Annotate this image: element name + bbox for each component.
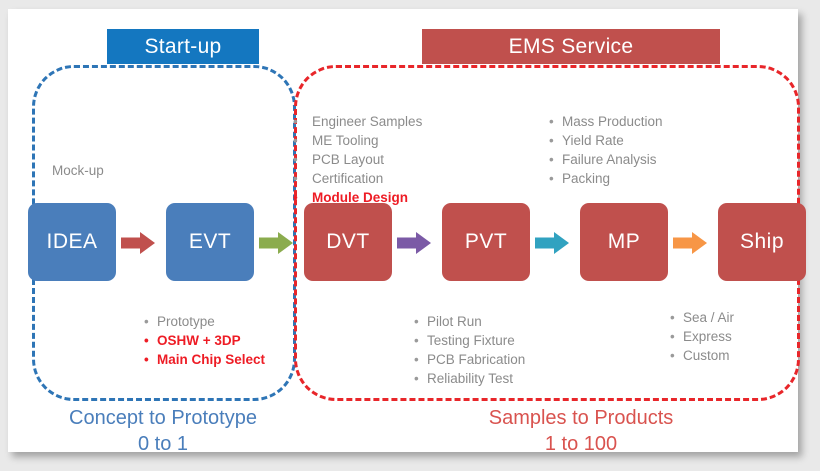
banner-ems-service: EMS Service: [422, 29, 720, 64]
bullet-icon: •: [549, 131, 562, 150]
stage-box-mp[interactable]: MP: [580, 203, 668, 281]
stage-box-ship[interactable]: Ship: [718, 203, 806, 281]
arrow-right-icon-pvt-to-mp: [535, 231, 569, 255]
list-item: •Main Chip Select: [144, 350, 265, 369]
stage-label-dvt: DVT: [326, 230, 370, 254]
list-item: •Reliability Test: [414, 369, 525, 388]
list-evt-activities: •Prototype•OSHW + 3DP•Main Chip Select: [144, 312, 265, 369]
bullet-icon: •: [293, 188, 298, 207]
stage-box-dvt[interactable]: DVT: [304, 203, 392, 281]
bullet-icon: •: [293, 131, 298, 150]
bullet-icon: •: [549, 112, 562, 131]
list-item-label: Mass Production: [562, 114, 663, 129]
list-item-label: Pilot Run: [427, 314, 482, 329]
list-item: •Engineer Samples: [299, 112, 422, 131]
banner-startup-label: Start-up: [144, 35, 221, 59]
list-item-label: Main Chip Select: [157, 352, 265, 367]
banner-ems-label: EMS Service: [509, 35, 634, 59]
bullet-icon: •: [549, 169, 562, 188]
list-item-label: Prototype: [157, 314, 215, 329]
bullet-icon: •: [293, 169, 298, 188]
list-item: •Custom: [670, 346, 734, 365]
list-item: •Testing Fixture: [414, 331, 525, 350]
list-item-label: Testing Fixture: [427, 333, 515, 348]
bullet-icon: •: [414, 369, 427, 388]
list-item-label: Sea / Air: [683, 310, 734, 325]
list-item: •PCB Layout: [299, 150, 422, 169]
bullet-icon: •: [144, 350, 157, 369]
bullet-icon: •: [670, 327, 683, 346]
list-dvt-deliverables: •Engineer Samples•ME Tooling•PCB Layout•…: [299, 112, 422, 207]
bullet-icon: •: [144, 331, 157, 350]
arrow-right-icon-idea-to-evt: [121, 231, 155, 255]
caption-ems: Samples to Products 1 to 100: [368, 405, 794, 457]
diagram-card: Start-up EMS Service Mock-up •Engineer S…: [8, 9, 798, 452]
list-item-label: Reliability Test: [427, 371, 513, 386]
caption-startup-line1: Concept to Prototype: [32, 405, 294, 431]
mockup-label: Mock-up: [52, 163, 104, 178]
list-item-label: ME Tooling: [312, 133, 379, 148]
list-item-label: Packing: [562, 171, 610, 186]
stage-label-pvt: PVT: [465, 230, 507, 254]
list-ship-activities: •Sea / Air•Express•Custom: [670, 308, 734, 365]
stage-label-mp: MP: [608, 230, 641, 254]
arrow-right-icon-evt-to-dvt: [259, 231, 293, 255]
list-item: •Sea / Air: [670, 308, 734, 327]
list-item: •Prototype: [144, 312, 265, 331]
list-item: •ME Tooling: [299, 131, 422, 150]
list-item-label: Custom: [683, 348, 730, 363]
list-item: •Express: [670, 327, 734, 346]
bullet-icon: •: [293, 150, 298, 169]
list-item-label: PCB Layout: [312, 152, 384, 167]
list-item-label: Yield Rate: [562, 133, 624, 148]
arrow-right-icon-mp-to-ship: [673, 231, 707, 255]
list-dvt-bullets: •••••: [293, 112, 298, 207]
list-item: •Packing: [549, 169, 663, 188]
list-pvt-activities: •Pilot Run•Testing Fixture•PCB Fabricati…: [414, 312, 525, 388]
banner-startup: Start-up: [107, 29, 259, 64]
arrow-right-icon-dvt-to-pvt: [397, 231, 431, 255]
list-item: •Certification: [299, 169, 422, 188]
list-item: •OSHW + 3DP: [144, 331, 265, 350]
list-item: •Pilot Run: [414, 312, 525, 331]
bullet-icon: •: [414, 312, 427, 331]
list-mp-deliverables: •Mass Production•Yield Rate•Failure Anal…: [549, 112, 663, 188]
stage-label-idea: IDEA: [46, 230, 97, 254]
bullet-icon: •: [549, 150, 562, 169]
bullet-icon: •: [414, 350, 427, 369]
bullet-icon: •: [670, 346, 683, 365]
caption-startup-line2: 0 to 1: [32, 431, 294, 457]
list-item-label: PCB Fabrication: [427, 352, 525, 367]
stage-label-evt: EVT: [189, 230, 231, 254]
bullet-icon: •: [414, 331, 427, 350]
caption-ems-line1: Samples to Products: [368, 405, 794, 431]
caption-ems-line2: 1 to 100: [368, 431, 794, 457]
bullet-icon: •: [144, 312, 157, 331]
list-item: •Failure Analysis: [549, 150, 663, 169]
list-item-label: Failure Analysis: [562, 152, 657, 167]
list-item-label: Certification: [312, 171, 383, 186]
stage-box-evt[interactable]: EVT: [166, 203, 254, 281]
list-item-label: OSHW + 3DP: [157, 333, 241, 348]
stage-box-idea[interactable]: IDEA: [28, 203, 116, 281]
list-item-label: Engineer Samples: [312, 114, 422, 129]
bullet-icon: •: [670, 308, 683, 327]
stage-box-pvt[interactable]: PVT: [442, 203, 530, 281]
list-item-label: Express: [683, 329, 732, 344]
list-item: •PCB Fabrication: [414, 350, 525, 369]
bullet-icon: •: [293, 112, 298, 131]
caption-startup: Concept to Prototype 0 to 1: [32, 405, 294, 457]
stage-label-ship: Ship: [740, 230, 784, 254]
list-item: •Mass Production: [549, 112, 663, 131]
list-item: •Yield Rate: [549, 131, 663, 150]
